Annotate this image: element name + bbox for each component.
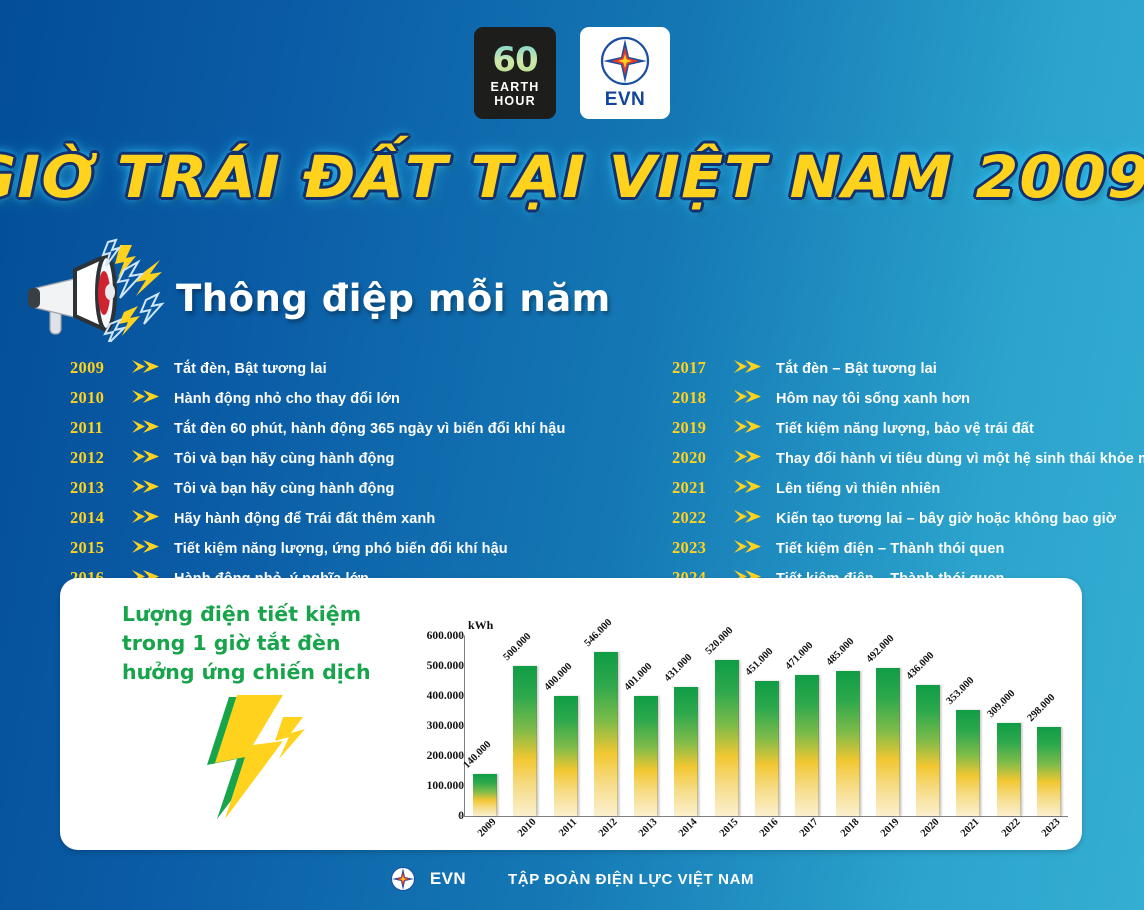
bar-slot: 140.000 — [465, 636, 505, 816]
y-axis-ticks: 0100.000200.000300.000400.000500.000600.… — [408, 596, 464, 850]
bar-slot: 546.000 — [586, 636, 626, 816]
message-text: Tiết kiệm năng lượng, bảo vệ trái đất — [776, 421, 1034, 437]
x-tick-label: 2014 — [677, 817, 700, 840]
x-label-slot: 2017 — [787, 820, 827, 860]
x-label-slot: 2014 — [666, 820, 706, 860]
bar-slot: 500.000 — [505, 636, 545, 816]
double-arrow-icon — [734, 538, 776, 553]
x-label-slot: 2018 — [827, 820, 867, 860]
double-arrow-icon — [734, 478, 776, 493]
x-tick-label: 2012 — [597, 817, 620, 840]
bar-value-label: 492.000 — [864, 633, 896, 665]
double-arrow-icon — [734, 508, 776, 523]
y-tick-mark — [458, 726, 465, 727]
x-tick-label: 2022 — [999, 817, 1022, 840]
message-year: 2018 — [672, 388, 734, 408]
bar-slot: 436.000 — [908, 636, 948, 816]
evn-star-icon — [599, 35, 651, 87]
message-text: Hôm nay tôi sống xanh hơn — [776, 391, 970, 407]
logo-bar: 60 EARTH HOUR EVN — [0, 27, 1144, 119]
x-label-slot: 2011 — [546, 820, 586, 860]
bar — [755, 681, 779, 816]
x-label-slot: 2015 — [707, 820, 747, 860]
earth-hour-logo: 60 EARTH HOUR — [474, 27, 556, 119]
evn-logo: EVN — [580, 27, 670, 119]
x-label-slot: 2021 — [948, 820, 988, 860]
y-axis-unit-label: kWh — [468, 618, 493, 633]
energy-savings-bar-chart: kWh 0100.000200.000300.000400.000500.000… — [408, 578, 1082, 850]
bar — [916, 685, 940, 816]
x-label-slot: 2016 — [747, 820, 787, 860]
x-tick-label: 2019 — [879, 817, 902, 840]
bar-slot: 492.000 — [868, 636, 908, 816]
x-tick-label: 2010 — [516, 817, 539, 840]
x-tick-label: 2015 — [718, 817, 741, 840]
x-label-slot: 2010 — [505, 820, 545, 860]
bar — [836, 671, 860, 817]
double-arrow-icon — [734, 388, 776, 403]
bar-slot: 471.000 — [787, 636, 827, 816]
footer-evn-label: EVN — [430, 869, 466, 889]
earth-hour-earth-text: EARTH — [490, 80, 539, 94]
bar — [956, 710, 980, 816]
bar — [1037, 727, 1061, 816]
messages-section: 2009 Tắt đèn, Bật tương lai 2010 Hành độ… — [0, 358, 1144, 598]
footer-organization-name: TẬP ĐOÀN ĐIỆN LỰC VIỆT NAM — [508, 871, 754, 888]
x-axis-line — [464, 816, 1068, 817]
bar-slot: 298.000 — [1029, 636, 1069, 816]
message-text: Thay đổi hành vi tiêu dùng vì một hệ sin… — [776, 451, 1144, 467]
x-tick-label: 2023 — [1040, 817, 1063, 840]
chart-card: Lượng điện tiết kiệm trong 1 giờ tắt đèn… — [60, 578, 1082, 850]
bar-value-label: 520.000 — [703, 625, 735, 657]
bar — [674, 687, 698, 816]
bar-value-label: 471.000 — [784, 640, 816, 672]
x-axis-labels: 2009201020112012201320142015201620172018… — [465, 820, 1069, 860]
megaphone-icon — [18, 232, 168, 342]
bar-value-label: 500.000 — [502, 631, 534, 663]
x-label-slot: 2023 — [1029, 820, 1069, 860]
bar — [594, 652, 618, 816]
bar-slot: 400.000 — [546, 636, 586, 816]
message-year: 2023 — [672, 538, 734, 558]
x-label-slot: 2013 — [626, 820, 666, 860]
bars-container: 140.000500.000400.000546.000401.000431.0… — [465, 636, 1069, 816]
x-label-slot: 2019 — [868, 820, 908, 860]
bar-value-label: 298.000 — [1025, 692, 1057, 724]
bar — [473, 774, 497, 816]
y-tick-mark — [458, 696, 465, 697]
double-arrow-icon — [734, 358, 776, 373]
chart-caption-line-1: Lượng điện tiết kiệm — [122, 600, 371, 629]
message-year: 2022 — [672, 508, 734, 528]
message-year: 2020 — [672, 448, 734, 468]
x-tick-label: 2017 — [798, 817, 821, 840]
bar-value-label: 400.000 — [542, 661, 574, 693]
chart-caption-line-2: trong 1 giờ tắt đèn — [122, 629, 371, 658]
bar — [513, 666, 537, 816]
message-year: 2019 — [672, 418, 734, 438]
bar — [715, 660, 739, 816]
x-tick-label: 2020 — [919, 817, 942, 840]
y-tick-mark — [458, 636, 465, 637]
x-tick-label: 2009 — [476, 817, 499, 840]
double-arrow-icon — [734, 418, 776, 433]
x-tick-label: 2013 — [637, 817, 660, 840]
bar-slot: 401.000 — [626, 636, 666, 816]
bar-slot: 520.000 — [707, 636, 747, 816]
message-text: Tiết kiệm điện – Thành thói quen — [776, 541, 1005, 557]
x-label-slot: 2020 — [908, 820, 948, 860]
y-tick-mark — [458, 666, 465, 667]
message-text: Kiến tạo tương lai – bây giờ hoặc không … — [776, 511, 1116, 527]
earth-hour-hour-text: HOUR — [494, 94, 536, 108]
bar-value-label: 309.000 — [985, 688, 1017, 720]
bar-value-label: 431.000 — [663, 652, 695, 684]
footer: EVN TẬP ĐOÀN ĐIỆN LỰC VIỆT NAM — [0, 866, 1144, 892]
bar-value-label: 451.000 — [744, 646, 776, 678]
y-tick-mark — [458, 756, 465, 757]
bar — [554, 696, 578, 816]
bar — [795, 675, 819, 816]
bar-slot: 451.000 — [747, 636, 787, 816]
bar-value-label: 546.000 — [582, 617, 614, 649]
bar-value-label: 401.000 — [623, 661, 655, 693]
y-tick-mark — [458, 786, 465, 787]
earth-hour-60-text: 60 — [492, 43, 537, 77]
x-tick-label: 2018 — [838, 817, 861, 840]
chart-caption: Lượng điện tiết kiệm trong 1 giờ tắt đèn… — [122, 600, 371, 687]
section-title: Thông điệp mỗi năm — [176, 277, 611, 320]
x-tick-label: 2016 — [758, 817, 781, 840]
message-text: Lên tiếng vì thiên nhiên — [776, 481, 940, 497]
evn-logo-label: EVN — [605, 89, 646, 111]
bar — [997, 723, 1021, 816]
section-header: Thông điệp mỗi năm — [18, 232, 611, 342]
bar-value-label: 353.000 — [945, 675, 977, 707]
bar-value-label: 485.000 — [824, 636, 856, 668]
bar-value-label: 140.000 — [462, 739, 494, 771]
chart-caption-line-3: hưởng ứng chiến dịch — [122, 658, 371, 687]
x-label-slot: 2009 — [465, 820, 505, 860]
x-tick-label: 2011 — [557, 817, 579, 839]
x-label-slot: 2022 — [988, 820, 1028, 860]
bar-slot: 353.000 — [948, 636, 988, 816]
footer-evn-star-icon — [390, 866, 416, 892]
bar-slot: 431.000 — [666, 636, 706, 816]
bar — [634, 696, 658, 816]
x-label-slot: 2012 — [586, 820, 626, 860]
message-year: 2017 — [672, 358, 734, 378]
bar-slot: 485.000 — [827, 636, 867, 816]
message-year: 2021 — [672, 478, 734, 498]
bar-slot: 309.000 — [988, 636, 1028, 816]
lightning-bolt-graphic — [191, 693, 309, 828]
bar — [876, 668, 900, 816]
bar-value-label: 436.000 — [905, 650, 937, 682]
messages-column-right: 2017 Tắt đèn – Bật tương lai 2018 Hôm na… — [72, 358, 672, 598]
chart-card-left: Lượng điện tiết kiệm trong 1 giờ tắt đèn… — [60, 578, 408, 850]
page-title: GIỜ TRÁI ĐẤT TẠI VIỆT NAM 2009-2024 — [0, 143, 1144, 211]
x-tick-label: 2021 — [959, 817, 982, 840]
double-arrow-icon — [734, 448, 776, 463]
y-tick-mark — [458, 816, 465, 817]
message-text: Tắt đèn – Bật tương lai — [776, 361, 937, 377]
